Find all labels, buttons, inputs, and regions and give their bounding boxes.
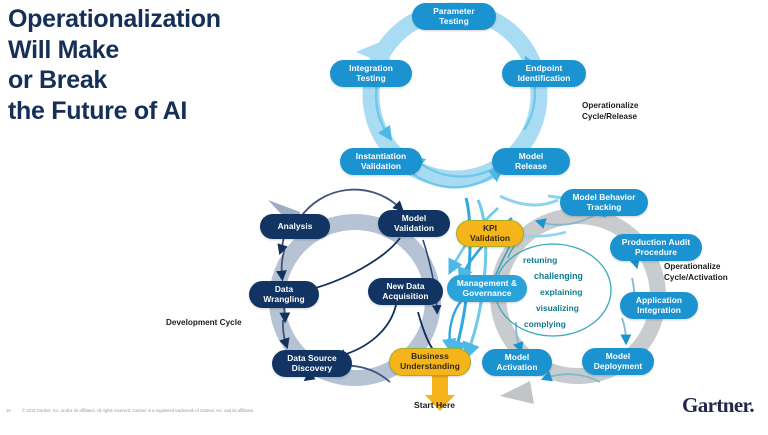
wordcloud-word-visualizing: visualizing [536,303,579,313]
node-kpi-validation[interactable]: KPI Validation [456,220,524,247]
gartner-logo: Gartner. [682,393,754,418]
node-data-wrangling[interactable]: Data Wrangling [249,281,319,308]
wordcloud-word-explaining: explaining [540,287,583,297]
node-application-integration[interactable]: Application Integration [620,292,698,319]
gartner-logo-dot: . [749,393,754,417]
wordcloud-word-complying: complying [524,319,566,329]
node-model-behavior-tracking[interactable]: Model Behavior Tracking [560,189,648,216]
node-endpoint-identification[interactable]: Endpoint Identification [502,60,586,87]
node-data-source-discovery[interactable]: Data Source Discovery [272,350,352,377]
node-instantiation-validation[interactable]: Instantiation Validation [340,148,422,175]
caption-operationalize-activation: Operationalize Cycle/Activation [664,262,728,283]
gartner-logo-text: Gartner [682,393,749,417]
node-model-validation[interactable]: Model Validation [378,210,450,237]
slide-canvas: Operationalization Will Make or Break th… [0,0,768,435]
wordcloud-word-challenging: challenging [534,271,583,281]
caption-operationalize-release: Operationalize Cycle/Release [582,101,638,122]
node-business-understanding[interactable]: Business Understanding [389,348,471,376]
node-model-deployment[interactable]: Model Deployment [582,348,654,375]
label-start-here: Start Here [414,400,455,410]
node-analysis[interactable]: Analysis [260,214,330,239]
node-production-audit-procedure[interactable]: Production Audit Procedure [610,234,702,261]
node-management-governance[interactable]: Management & Governance [447,275,527,302]
caption-development-cycle: Development Cycle [166,318,242,329]
copyright-notice: © 2019 Gartner, Inc. and/or its affiliat… [22,408,254,413]
node-new-data-acquisition[interactable]: New Data Acquisition [368,278,443,305]
node-parameter-testing[interactable]: Parameter Testing [412,3,496,30]
slide-number: 15 [6,408,11,413]
node-model-activation[interactable]: Model Activation [482,349,552,376]
node-integration-testing[interactable]: Integration Testing [330,60,412,87]
wordcloud-word-retuning: retuning [523,255,557,265]
node-model-release[interactable]: Model Release [492,148,570,175]
